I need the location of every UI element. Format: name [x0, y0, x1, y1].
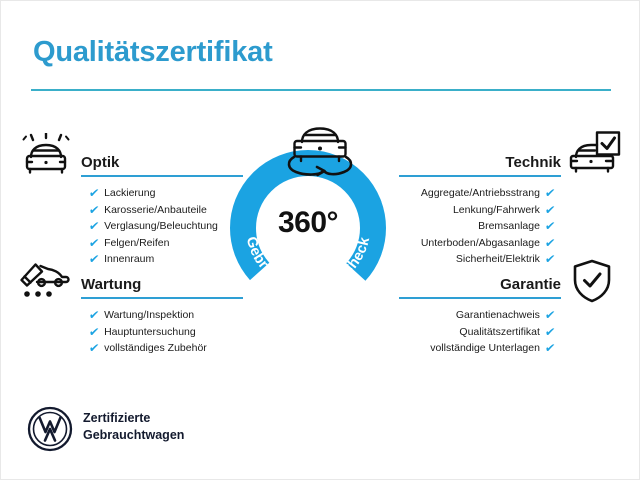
section-technik-list: Aggregate/Antriebsstrang✔ Lenkung/Fahrwe…	[399, 185, 555, 268]
section-optik-list: ✔Lackierung ✔Karosserie/Anbauteile ✔Verg…	[89, 185, 243, 268]
svg-text:Gebrauchtwagen-Check: Gebrauchtwagen-Check	[243, 235, 374, 294]
section-optik-title: Optik	[81, 154, 119, 171]
section-wartung-header: Wartung	[81, 269, 243, 299]
section-technik-header: Technik	[399, 147, 561, 177]
list-item-label: Lenkung/Fahrwerk	[453, 202, 540, 219]
list-item: ✔Innenraum	[89, 251, 243, 268]
list-item-label: Hauptuntersuchung	[104, 324, 196, 341]
car-shine-icon	[21, 133, 71, 180]
section-wartung-list: ✔Wartung/Inspektion ✔Hauptuntersuchung ✔…	[89, 307, 243, 357]
certificate-page: Qualitätszertifikat Optik ✔Lackierung ✔K…	[0, 0, 640, 480]
check-icon: ✔	[544, 204, 556, 216]
section-technik-divider	[399, 175, 561, 177]
check-icon: ✔	[544, 237, 556, 249]
section-garantie-list: Garantienachweis✔ Qualitätszertifikat✔ v…	[399, 307, 555, 357]
list-item: Garantienachweis✔	[399, 307, 555, 324]
section-garantie-header: Garantie	[399, 269, 561, 299]
list-item: ✔Felgen/Reifen	[89, 235, 243, 252]
badge-center-label: 360°	[229, 206, 387, 240]
list-item-label: Verglasung/Beleuchtung	[104, 218, 218, 235]
list-item-label: Innenraum	[104, 251, 154, 268]
list-item: vollständige Unterlagen✔	[399, 340, 555, 357]
check-icon: ✔	[544, 342, 556, 354]
list-item: ✔Verglasung/Beleuchtung	[89, 218, 243, 235]
check-icon: ✔	[544, 220, 556, 232]
list-item-label: Sicherheit/Elektrik	[456, 251, 540, 268]
check-icon: ✔	[88, 326, 100, 338]
list-item-label: vollständiges Zubehör	[104, 340, 207, 357]
list-item: Aggregate/Antriebsstrang✔	[399, 185, 555, 202]
page-title: Qualitätszertifikat	[33, 36, 273, 69]
list-item: Sicherheit/Elektrik✔	[399, 251, 555, 268]
shield-check-icon	[571, 259, 613, 308]
check-icon: ✔	[544, 253, 556, 265]
check-icon: ✔	[88, 253, 100, 265]
section-wartung-title: Wartung	[81, 276, 141, 293]
check-icon: ✔	[544, 326, 556, 338]
section-wartung: Wartung ✔Wartung/Inspektion ✔Hauptunters…	[81, 269, 243, 357]
footer-line-1: Zertifizierte	[83, 410, 184, 427]
section-garantie-title: Garantie	[500, 276, 561, 293]
footer-brand-text: Zertifizierte Gebrauchtwagen	[83, 410, 184, 444]
badge-ring-label: Gebrauchtwagen-Check	[243, 235, 374, 294]
list-item-label: Bremsanlage	[478, 218, 540, 235]
list-item: ✔Wartung/Inspektion	[89, 307, 243, 324]
list-item-label: Aggregate/Antriebsstrang	[421, 185, 540, 202]
section-garantie-divider	[399, 297, 561, 299]
check-icon: ✔	[88, 187, 100, 199]
section-technik-title: Technik	[505, 154, 561, 171]
section-garantie: Garantie Garantienachweis✔ Qualitätszert…	[399, 269, 561, 357]
list-item-label: Garantienachweis	[456, 307, 540, 324]
list-item: ✔Karosserie/Anbauteile	[89, 202, 243, 219]
car-service-pen-icon	[19, 261, 71, 308]
list-item-label: vollständige Unterlagen	[430, 340, 540, 357]
list-item: ✔vollständiges Zubehör	[89, 340, 243, 357]
list-item: Unterboden/Abgasanlage✔	[399, 235, 555, 252]
list-item: Qualitätszertifikat✔	[399, 324, 555, 341]
check-icon: ✔	[88, 342, 100, 354]
check-icon: ✔	[88, 309, 100, 321]
list-item-label: Unterboden/Abgasanlage	[421, 235, 540, 252]
check-icon: ✔	[544, 187, 556, 199]
section-optik-divider	[81, 175, 243, 177]
section-optik-header: Optik	[81, 147, 243, 177]
section-optik: Optik ✔Lackierung ✔Karosserie/Anbauteile…	[81, 147, 243, 268]
car-checkbox-icon	[567, 131, 621, 180]
section-technik: Technik Aggregate/Antriebsstrang✔ Lenkun…	[399, 147, 561, 268]
list-item-label: Felgen/Reifen	[104, 235, 169, 252]
list-item-label: Karosserie/Anbauteile	[104, 202, 207, 219]
title-divider	[31, 89, 611, 91]
check-icon: ✔	[88, 220, 100, 232]
list-item-label: Qualitätszertifikat	[459, 324, 540, 341]
check-icon: ✔	[88, 237, 100, 249]
list-item-label: Wartung/Inspektion	[104, 307, 194, 324]
list-item: ✔Lackierung	[89, 185, 243, 202]
list-item: ✔Hauptuntersuchung	[89, 324, 243, 341]
car-rotate-360-icon	[283, 119, 357, 181]
footer-line-2: Gebrauchtwagen	[83, 427, 184, 444]
check-icon: ✔	[544, 309, 556, 321]
list-item: Lenkung/Fahrwerk✔	[399, 202, 555, 219]
list-item-label: Lackierung	[104, 185, 155, 202]
volkswagen-logo	[27, 406, 73, 452]
list-item: Bremsanlage✔	[399, 218, 555, 235]
section-wartung-divider	[81, 297, 243, 299]
check-icon: ✔	[88, 204, 100, 216]
